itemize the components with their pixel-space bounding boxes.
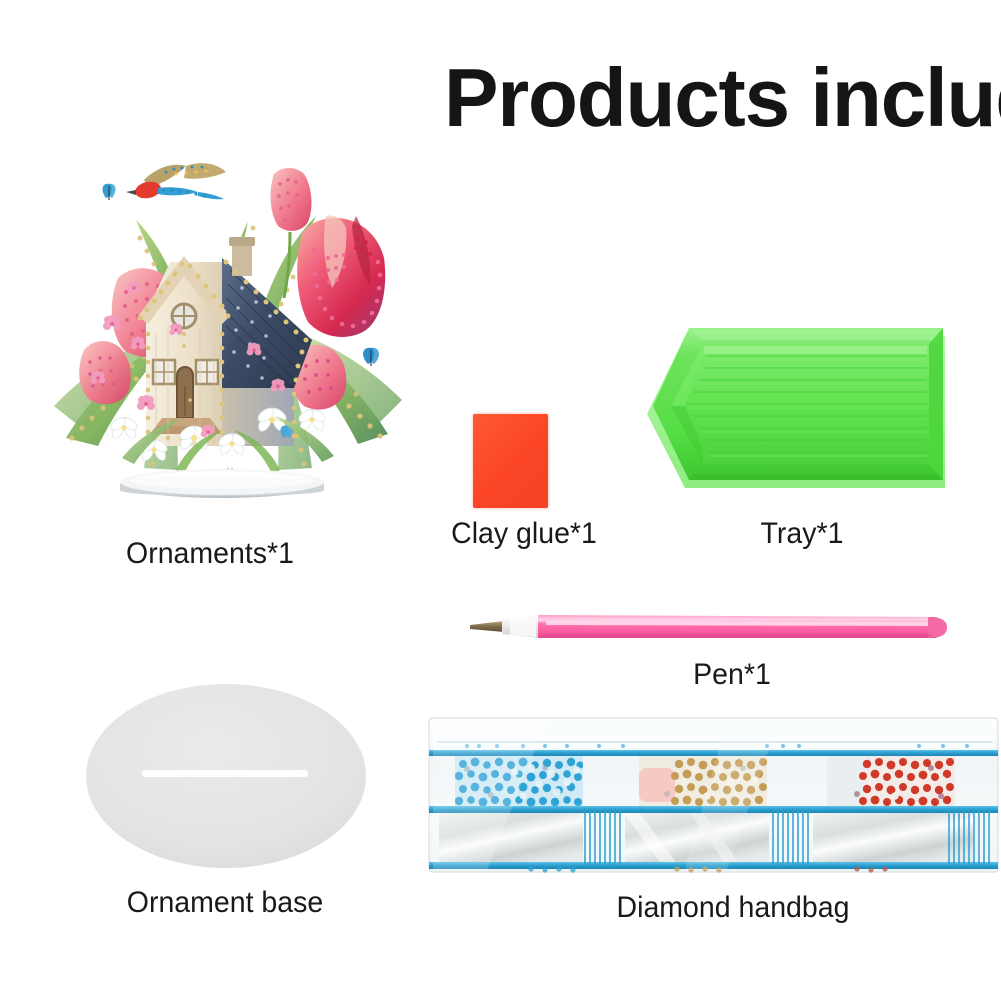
page-title: Products include xyxy=(444,55,984,141)
red-drill-compartment xyxy=(827,756,955,808)
hummingbird-icon xyxy=(126,163,226,200)
drill-tray xyxy=(645,314,960,504)
caption-tray: Tray*1 xyxy=(726,516,878,552)
ornament-base-oval xyxy=(84,682,369,870)
acrylic-stand-base xyxy=(120,469,324,498)
caption-diamond-handbag: Diamond handbag xyxy=(595,890,871,926)
caption-pen: Pen*1 xyxy=(656,657,808,693)
applicator-pen xyxy=(466,608,951,648)
tulip-small-left xyxy=(79,341,131,404)
caption-clay-glue: Clay glue*1 xyxy=(429,516,619,552)
butterfly-right xyxy=(363,348,379,366)
butterfly-left xyxy=(103,184,116,200)
tulip-large-right xyxy=(297,216,385,337)
caption-ornament-base: Ornament base xyxy=(111,885,339,921)
clay-glue-square xyxy=(473,414,548,508)
ornament-artwork xyxy=(26,138,426,513)
product-include-poster: Products include xyxy=(0,0,1001,1001)
caption-ornaments: Ornaments*1 xyxy=(115,536,305,572)
diamond-handbag xyxy=(427,712,1000,878)
